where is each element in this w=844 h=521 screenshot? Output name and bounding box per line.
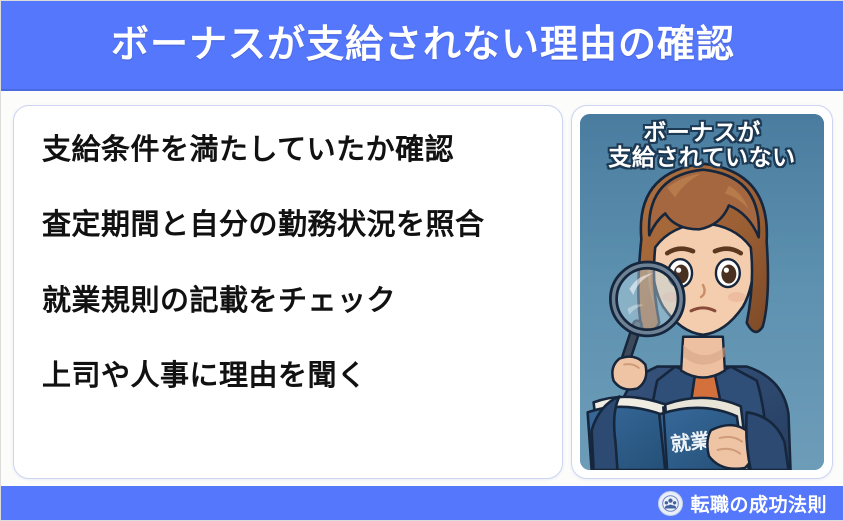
illustration-card: 就業規 xyxy=(571,105,833,479)
list-item: 支給条件を満たしていたか確認 xyxy=(14,132,562,168)
checklist-list: 支給条件を満たしていたか確認 査定期間と自分の勤務状況を照合 就業規則の記載をチ… xyxy=(14,132,562,394)
list-item: 査定期間と自分の勤務状況を照合 xyxy=(14,207,562,243)
slide-footer: 転職の成功法則 xyxy=(1,486,844,520)
woman-with-magnifier-illustration: 就業規 xyxy=(580,114,824,470)
list-item: 就業規則の記載をチェック xyxy=(14,283,562,319)
checklist-card: 支給条件を満たしていたか確認 査定期間と自分の勤務状況を照合 就業規則の記載をチ… xyxy=(13,105,563,479)
brand-name-label: 転職の成功法則 xyxy=(690,490,827,517)
slide-header: ボーナスが支給されない理由の確認 xyxy=(1,1,844,91)
list-item: 上司や人事に理由を聞く xyxy=(14,358,562,394)
brand-mark: 転職の成功法則 xyxy=(658,490,827,517)
infographic-slide: ボーナスが支給されない理由の確認 支給条件を満たしていたか確認 査定期間と自分の… xyxy=(0,0,844,521)
page-title: ボーナスが支給されない理由の確認 xyxy=(111,26,735,64)
illustration-image: 就業規 xyxy=(580,114,824,470)
circle-badge-icon xyxy=(658,491,683,516)
slide-body: 支給条件を満たしていたか確認 査定期間と自分の勤務状況を照合 就業規則の記載をチ… xyxy=(1,91,844,488)
